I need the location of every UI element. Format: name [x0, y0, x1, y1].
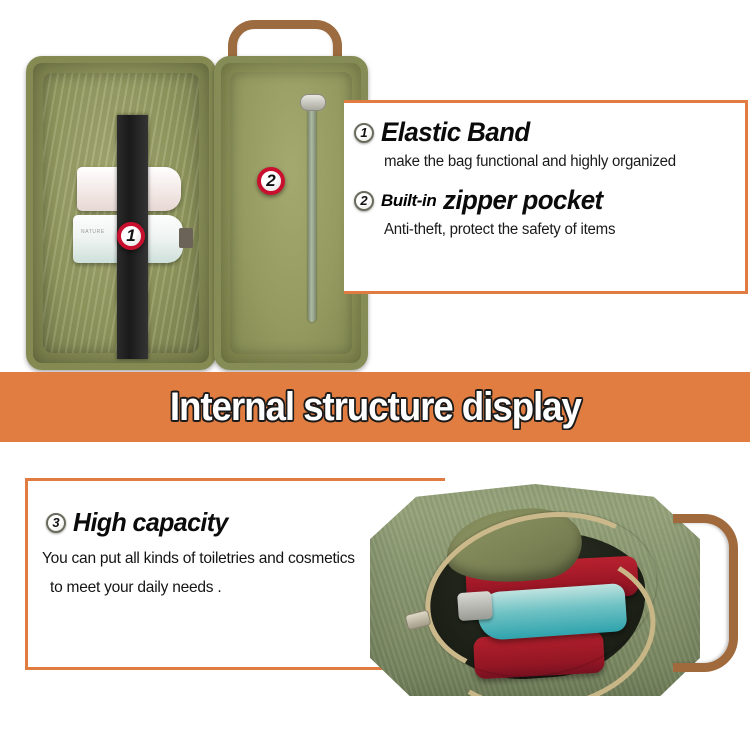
feature-row-1: 1 Elastic Band: [354, 117, 745, 148]
feature-title-3: High capacity: [73, 507, 228, 538]
zipper-pocket-face: [230, 72, 352, 354]
feature-title-2: zipper pocket: [443, 185, 603, 216]
tube-label-lower: NATURE: [81, 229, 105, 235]
pocket-zipper-line: [308, 108, 316, 322]
leather-side-strap: [673, 514, 738, 672]
feature-badge-2: 2: [354, 191, 374, 211]
feature-subtitle-1: make the bag functional and highly organ…: [384, 153, 734, 171]
feature-badge-3: 3: [46, 513, 66, 533]
open-toiletry-bag-photo: NATURE 1 2: [18, 18, 358, 370]
photo-badge-2: 2: [257, 167, 285, 195]
feature-title-1: Elastic Band: [381, 117, 530, 148]
section-banner-title: Internal structure display: [170, 385, 581, 430]
bag-left-compartment: NATURE: [26, 56, 216, 370]
section-banner: Internal structure display: [0, 372, 750, 442]
feature-subtitle-2: Anti-theft, protect the safety of items: [384, 221, 734, 239]
open-canvas-bag-with-bottles-photo: SALONS: [358, 462, 750, 710]
feature-row-2: 2 Built-in zipper pocket: [354, 185, 745, 216]
pocket-zipper-pull-icon: [300, 94, 326, 111]
feature-badge-1: 1: [354, 123, 374, 143]
feature-title-prefix-2: Built-in: [381, 191, 436, 211]
canvas-bag-body: SALONS: [370, 484, 700, 696]
product-infographic-page: NATURE 1 2 1 Elastic Band make the bag f…: [0, 0, 750, 750]
features-panel-top: 1 Elastic Band make the bag functional a…: [344, 100, 748, 294]
photo-badge-1: 1: [117, 222, 145, 250]
